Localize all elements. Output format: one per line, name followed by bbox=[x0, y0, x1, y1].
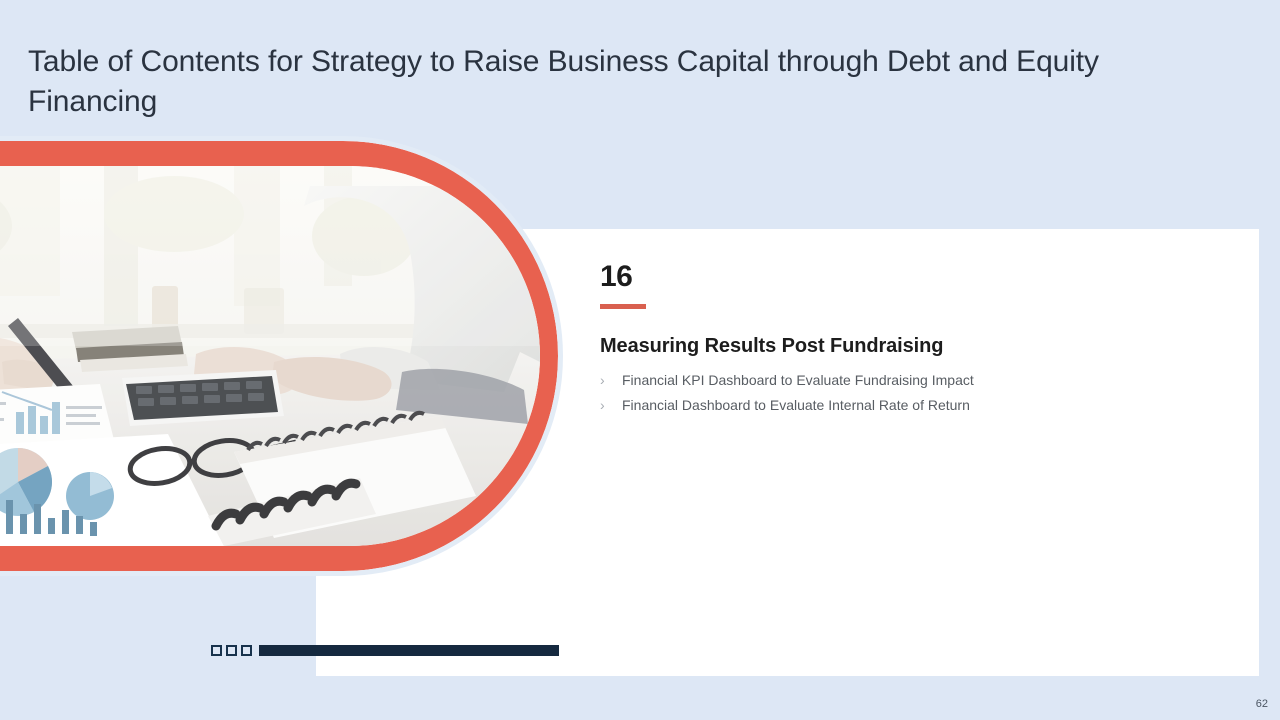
chevron-right-icon: › bbox=[600, 368, 622, 393]
list-item-label: Financial Dashboard to Evaluate Internal… bbox=[622, 393, 1220, 418]
entry-accent-rule bbox=[600, 304, 646, 309]
footer-progress-indicator bbox=[211, 645, 559, 656]
list-item-label: Financial KPI Dashboard to Evaluate Fund… bbox=[622, 368, 1220, 393]
business-meeting-photo bbox=[0, 166, 540, 546]
list-item[interactable]: › Financial KPI Dashboard to Evaluate Fu… bbox=[600, 368, 1220, 393]
chevron-right-icon: › bbox=[600, 393, 622, 418]
footer-square-2 bbox=[226, 645, 237, 656]
page-number: 62 bbox=[1256, 698, 1268, 710]
photo-frame bbox=[0, 141, 558, 571]
toc-entry: 16 Measuring Results Post Fundraising › … bbox=[600, 262, 1220, 418]
slide: Table of Contents for Strategy to Raise … bbox=[0, 0, 1280, 720]
photo-inner bbox=[0, 166, 540, 546]
footer-square-3 bbox=[241, 645, 252, 656]
footer-bar bbox=[259, 645, 559, 656]
photo-illustration bbox=[0, 166, 540, 546]
list-item[interactable]: › Financial Dashboard to Evaluate Intern… bbox=[600, 393, 1220, 418]
entry-bullet-list: › Financial KPI Dashboard to Evaluate Fu… bbox=[600, 368, 1220, 418]
entry-heading: Measuring Results Post Fundraising bbox=[600, 335, 1220, 358]
entry-number: 16 bbox=[600, 262, 1220, 292]
footer-square-1 bbox=[211, 645, 222, 656]
page-title: Table of Contents for Strategy to Raise … bbox=[28, 42, 1188, 122]
